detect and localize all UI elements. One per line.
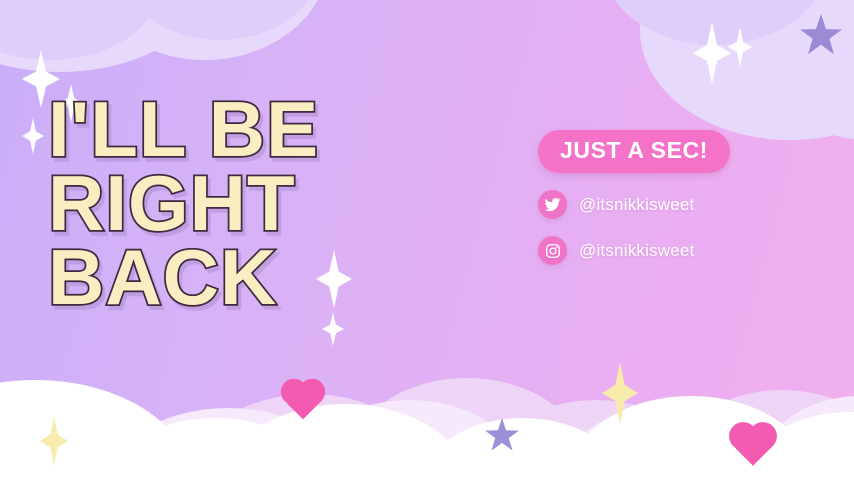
cloud-bottom-front-a: [0, 380, 190, 480]
cloud-bottom-front-g: [0, 430, 190, 480]
star-icon-bottom: [485, 418, 519, 452]
social-row-instagram[interactable]: @itsnikkisweet: [538, 236, 818, 265]
status-badge: JUST A SEC!: [538, 130, 730, 173]
cloud-bottom-baseline: [0, 456, 854, 480]
cloud-bottom-back-a: [195, 394, 425, 480]
cloud-bottom-front-d: [418, 418, 628, 480]
instagram-handle: @itsnikkisweet: [579, 241, 694, 261]
cloud-top-right-a: [640, 0, 854, 140]
cloud-top-right-d: [600, 0, 830, 45]
info-panel: JUST A SEC! @itsnikkisweet @itsnikkiswee…: [538, 130, 818, 265]
cloud-bottom-mid-a: [108, 408, 348, 480]
headline-line-3: BACK: [48, 240, 319, 314]
cloud-bottom-front-f: [740, 412, 854, 480]
sparkle-icon-topright-small: [728, 27, 752, 67]
sparkle-icon-topright-large: [693, 22, 731, 84]
stream-overlay-canvas: I'LL BE RIGHT BACK JUST A SEC! @itsnikki…: [0, 0, 854, 480]
cloud-bottom-mid-d: [760, 396, 854, 480]
cloud-bottom-back-e: [0, 398, 160, 480]
headline-line-1: I'LL BE: [48, 92, 319, 166]
cloud-bottom-back-b: [352, 378, 582, 480]
headline-line-2: RIGHT: [48, 166, 319, 240]
cloud-bottom-back-d: [672, 390, 854, 480]
cloud-top-left-d: [120, 0, 320, 40]
star-icon-topright: [800, 14, 842, 56]
cloud-bottom-mid-c: [560, 406, 775, 480]
sparkle-icon-bottomleft-yellow: [40, 416, 68, 466]
cloud-bottom-front-c: [220, 404, 470, 480]
cloud-bottom-mid-b: [300, 400, 520, 480]
twitter-icon: [538, 190, 567, 219]
twitter-handle: @itsnikkisweet: [579, 195, 694, 215]
cloud-top-right-b: [760, 0, 854, 140]
sparkle-icon-topleft-small: [22, 118, 44, 154]
heart-icon-center: [285, 383, 322, 420]
heart-icon-bottomright: [733, 426, 773, 466]
social-row-twitter[interactable]: @itsnikkisweet: [538, 190, 818, 219]
cloud-bottom-back-c: [488, 400, 703, 480]
cloud-top-right-c: [690, 10, 854, 140]
cloud-top-left-b: [80, 0, 330, 60]
cloud-top-left-c: [0, 0, 160, 60]
cloud-top-left-a: [0, 0, 210, 72]
cloud-bottom-front-b: [100, 418, 330, 480]
headline-block: I'LL BE RIGHT BACK: [48, 92, 319, 314]
instagram-icon: [538, 236, 567, 265]
sparkle-icon-beside-back-large: [316, 250, 352, 308]
sparkle-icon-beside-back-small: [322, 312, 344, 346]
cloud-bottom-front-e: [566, 396, 816, 480]
sparkle-icon-bottomcenter-yellow: [602, 362, 638, 424]
